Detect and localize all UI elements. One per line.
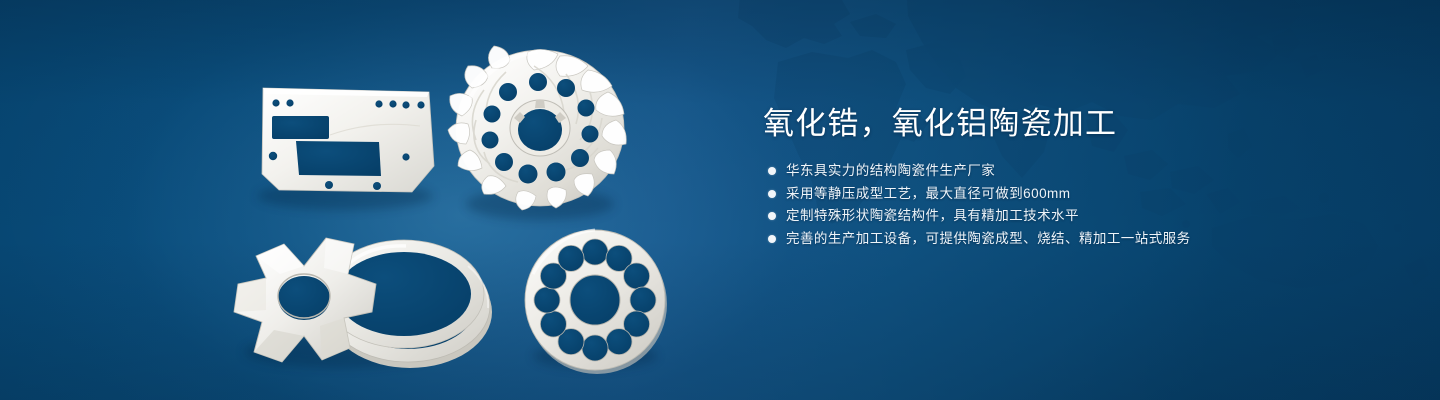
page-title: 氧化锆，氧化铝陶瓷加工 <box>763 104 1383 144</box>
list-item-label: 华东具实力的结构陶瓷件生产厂家 <box>786 160 995 182</box>
ceramic-impeller-shape <box>448 46 626 210</box>
bullet-dot-icon <box>768 235 776 243</box>
bullet-dot-icon <box>768 212 776 220</box>
list-item: 华东具实力的结构陶瓷件生产厂家 <box>763 160 1383 182</box>
hero-banner: 氧化锆，氧化铝陶瓷加工 华东具实力的结构陶瓷件生产厂家 采用等静压成型工艺，最大… <box>0 0 1440 400</box>
list-item: 采用等静压成型工艺，最大直径可做到600mm <box>763 183 1383 205</box>
bullet-dot-icon <box>768 190 776 198</box>
feature-list: 华东具实力的结构陶瓷件生产厂家 采用等静压成型工艺，最大直径可做到600mm 定… <box>763 160 1383 250</box>
list-item-label: 完善的生产加工设备，可提供陶瓷成型、烧结、精加工一站式服务 <box>786 228 1191 250</box>
list-item-label: 定制特殊形状陶瓷结构件，具有精加工技术水平 <box>786 205 1079 227</box>
list-item-label: 采用等静压成型工艺，最大直径可做到600mm <box>786 183 1070 205</box>
list-item: 完善的生产加工设备，可提供陶瓷成型、烧结、精加工一站式服务 <box>763 228 1383 250</box>
list-item: 定制特殊形状陶瓷结构件，具有精加工技术水平 <box>763 205 1383 227</box>
product-image-group <box>0 0 720 400</box>
ceramic-machined-plate-shape <box>262 88 434 192</box>
banner-copy: 氧化锆，氧化铝陶瓷加工 华东具实力的结构陶瓷件生产厂家 采用等静压成型工艺，最大… <box>763 104 1383 250</box>
bullet-dot-icon <box>768 167 776 175</box>
